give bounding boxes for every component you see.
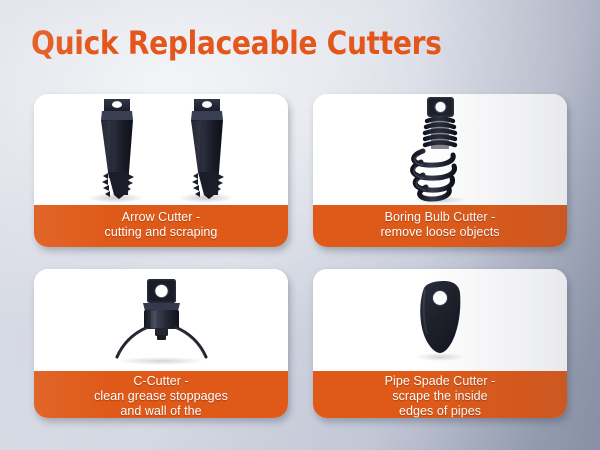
card-boring-bulb-cutter[interactable]: Boring Bulb Cutter - remove loose object… [313, 94, 567, 247]
caption-line: edges of pipes [319, 404, 561, 418]
caption-line: scrape the inside [319, 389, 561, 404]
caption-line: and wall of the [40, 404, 282, 418]
caption-line: C-Cutter - [40, 374, 282, 389]
c-cutter-figure [34, 269, 288, 371]
caption-line: Pipe Spade Cutter - [319, 374, 561, 389]
boring-bulb-cutter-caption: Boring Bulb Cutter - remove loose object… [313, 205, 567, 247]
caption-line: cutting and scraping [40, 225, 282, 240]
c-cutter-caption: C-Cutter - clean grease stoppages and wa… [34, 371, 288, 418]
boring-bulb-spiral-icon [313, 94, 567, 205]
arrow-cutter-caption: Arrow Cutter - cutting and scraping [34, 205, 288, 247]
card-c-cutter[interactable]: C-Cutter - clean grease stoppages and wa… [34, 269, 288, 418]
card-pipe-spade-cutter[interactable]: Pipe Spade Cutter - scrape the inside ed… [313, 269, 567, 418]
pipe-spade-cutter-caption: Pipe Spade Cutter - scrape the inside ed… [313, 371, 567, 418]
caption-line: Arrow Cutter - [40, 210, 282, 225]
c-cutter-wire-legs-icon [34, 269, 288, 371]
pipe-spade-cutter-figure [313, 269, 567, 371]
page-title: Quick Replaceable Cutters [31, 24, 442, 62]
poster-canvas: Quick Replaceable Cutters [0, 0, 600, 450]
caption-line: clean grease stoppages [40, 389, 282, 404]
boring-bulb-cutter-figure [313, 94, 567, 205]
pipe-spade-blade-icon [313, 269, 567, 371]
arrow-cutter-figure [34, 94, 288, 205]
arrow-cutter-blades-icon [34, 94, 288, 205]
card-arrow-cutter[interactable]: Arrow Cutter - cutting and scraping [34, 94, 288, 247]
caption-line: Boring Bulb Cutter - [319, 210, 561, 225]
caption-line: remove loose objects [319, 225, 561, 240]
